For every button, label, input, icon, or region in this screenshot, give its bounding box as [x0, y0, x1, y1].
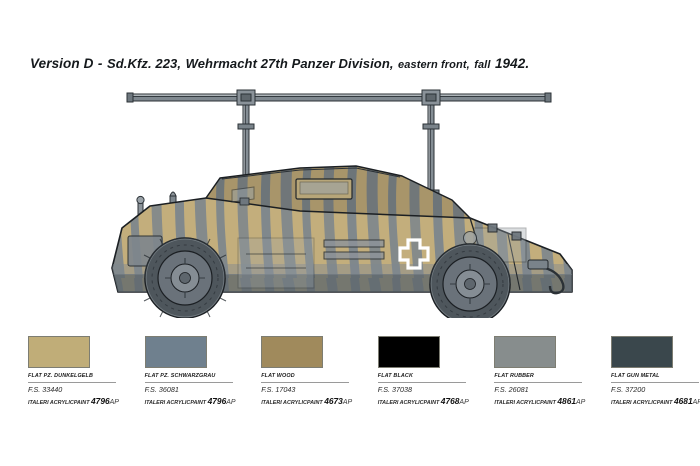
brand-label: Italeri AcrylicPaint [611, 400, 673, 406]
paint-fs-code: F.S. 37200 [611, 385, 645, 394]
paint-brand-code: Italeri AcrylicPaint 4768AP [378, 396, 470, 406]
paint-fs-code: F.S. 26081 [494, 385, 528, 394]
brand-label: Italeri AcrylicPaint [494, 400, 556, 406]
divider [145, 382, 233, 383]
paint-brand-code: Italeri AcrylicPaint 4861AP [494, 396, 586, 406]
paint-swatch [28, 336, 90, 368]
paint-code: 4861 [557, 396, 576, 406]
paint-swatch [611, 336, 673, 368]
paint-code: 4768 [441, 396, 460, 406]
paint-name: Flat Wood [261, 373, 345, 379]
paint-swatch [378, 336, 440, 368]
paint-name: Flat Rubber [494, 373, 578, 379]
version-title: Version D - Sd.Kfz. 223, Wehrmacht 27th … [30, 55, 670, 77]
divider [494, 382, 582, 383]
paint-entry[interactable]: Flat Pz. Dunkelgelb F.S. 33440 Italeri A… [0, 334, 117, 414]
year-label: 1942. [495, 56, 529, 71]
vehicle-designation: Sd.Kfz. 223, [107, 56, 181, 71]
version-label: Version D [30, 56, 93, 71]
painting-guide-sheet: Version D - Sd.Kfz. 223, Wehrmacht 27th … [0, 0, 700, 466]
paint-fs-code: F.S. 33440 [28, 385, 62, 394]
paint-brand-code: Italeri AcrylicPaint 4673AP [261, 396, 353, 406]
title-separator: - [98, 56, 103, 71]
paint-entry[interactable]: Flat Pz. Schwarzgrau F.S. 36081 Italeri … [117, 334, 234, 414]
paint-fs-code: F.S. 37038 [378, 385, 412, 394]
paint-code: 4796 [208, 396, 227, 406]
brand-label: Italeri AcrylicPaint [261, 400, 323, 406]
paint-entry[interactable]: Flat Black F.S. 37038 Italeri AcrylicPai… [350, 334, 467, 414]
paint-swatch [145, 336, 207, 368]
paint-code: 4796 [91, 396, 110, 406]
paint-entry[interactable]: Flat Wood F.S. 17043 Italeri AcrylicPain… [233, 334, 350, 414]
paint-fs-code: F.S. 36081 [145, 385, 179, 394]
paint-brand-code: Italeri AcrylicPaint 4796AP [145, 396, 237, 406]
brand-label: Italeri AcrylicPaint [378, 400, 440, 406]
brand-label: Italeri AcrylicPaint [145, 400, 207, 406]
paint-name: Flat Pz. Schwarzgrau [145, 373, 229, 379]
divider [261, 382, 349, 383]
divider [611, 382, 699, 383]
divider [378, 382, 466, 383]
paint-legend: Flat Pz. Dunkelgelb F.S. 33440 Italeri A… [0, 334, 700, 414]
paint-brand-code: Italeri AcrylicPaint 4796AP [28, 396, 120, 406]
paint-code: 4673 [324, 396, 343, 406]
paint-fs-code: F.S. 17043 [261, 385, 295, 394]
paint-name: Flat Gun Metal [611, 373, 695, 379]
divider [28, 382, 116, 383]
paint-entry[interactable]: Flat Rubber F.S. 26081 Italeri AcrylicPa… [466, 334, 583, 414]
front-name: eastern front, [398, 59, 470, 71]
paint-code-suffix: AP [693, 399, 700, 406]
brand-label: Italeri AcrylicPaint [28, 400, 90, 406]
paint-name: Flat Pz. Dunkelgelb [28, 373, 112, 379]
period-name: fall [474, 59, 490, 71]
paint-brand-code: Italeri AcrylicPaint 4681AP [611, 396, 700, 406]
vehicle-illustration [0, 78, 700, 318]
paint-name: Flat Black [378, 373, 462, 379]
paint-swatch [494, 336, 556, 368]
paint-code: 4681 [674, 396, 693, 406]
paint-entry[interactable]: Flat Gun Metal F.S. 37200 Italeri Acryli… [583, 334, 700, 414]
paint-swatch [261, 336, 323, 368]
unit-name: Wehrmacht 27th Panzer Division, [186, 56, 394, 71]
sd-kfz-223-drawing [0, 78, 700, 318]
